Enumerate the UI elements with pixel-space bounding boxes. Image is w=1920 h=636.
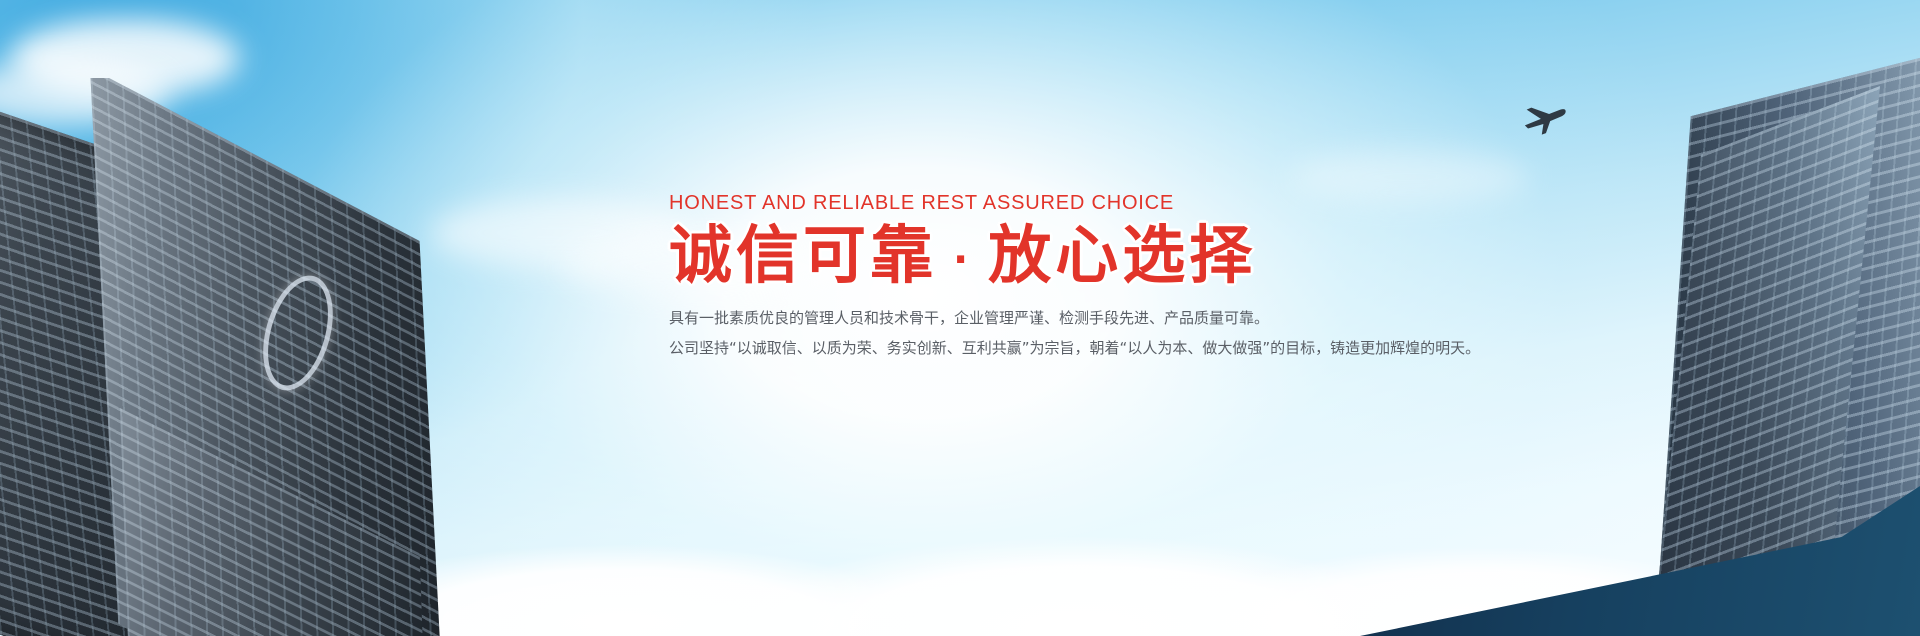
english-tagline: HONEST AND RELIABLE REST ASSURED CHOICE <box>669 192 1689 215</box>
page-title: 诚信可靠·放心选择 <box>669 219 1689 292</box>
airplane-icon <box>1519 98 1571 141</box>
description-line-1: 具有一批素质优良的管理人员和技术骨干，企业管理严谨、检测手段先进、产品质量可靠。 <box>669 306 1689 330</box>
headline-left: 诚信可靠 <box>669 219 937 292</box>
description-line-2: 公司坚持“以诚取信、以质为荣、务实创新、互利共赢”为宗旨，朝着“以人为本、做大做… <box>669 336 1689 360</box>
glass-skyscraper-left <box>0 78 440 636</box>
corporate-hero-banner: HONEST AND RELIABLE REST ASSURED CHOICE … <box>0 0 1920 636</box>
headline-right: 放心选择 <box>988 219 1256 292</box>
headline-separator-dot: · <box>937 237 988 283</box>
banner-description: 具有一批素质优良的管理人员和技术骨干，企业管理严谨、检测手段先进、产品质量可靠。… <box>669 306 1689 361</box>
banner-copy-block: HONEST AND RELIABLE REST ASSURED CHOICE … <box>669 192 1689 367</box>
